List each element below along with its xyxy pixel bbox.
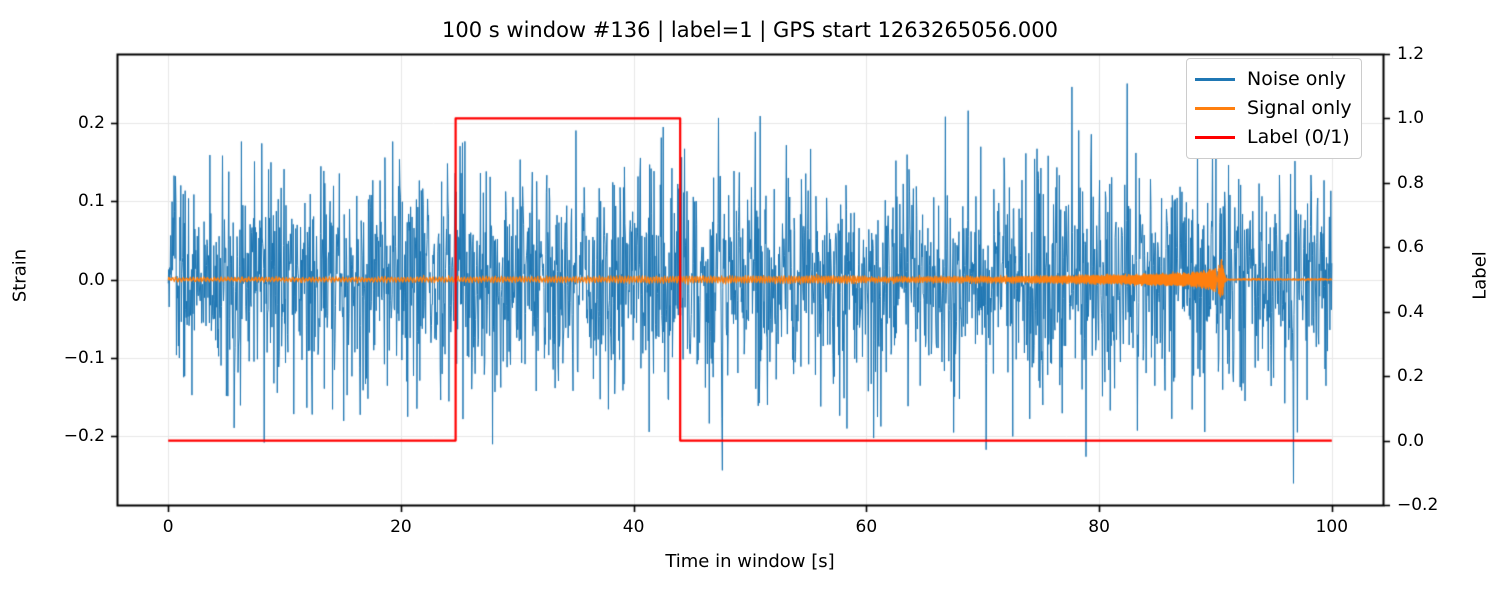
- legend: Noise only Signal only Label (0/1): [1186, 58, 1362, 159]
- y-tick-label-right: 0.2: [1397, 366, 1424, 386]
- legend-label-signal-only: Signal only: [1247, 99, 1352, 118]
- y-tick-label-right: 1.0: [1397, 108, 1424, 128]
- y-tick-label-right: 0.0: [1397, 431, 1424, 451]
- y-tick-label-right: 0.6: [1397, 237, 1424, 257]
- legend-label-label: Label (0/1): [1247, 128, 1350, 147]
- y-tick-label-left: 0.2: [78, 113, 105, 133]
- x-tick-label: 100: [1316, 517, 1348, 537]
- legend-swatch-label: [1195, 136, 1235, 139]
- x-tick-label: 40: [623, 517, 645, 537]
- y-tick-label-right: 1.2: [1397, 44, 1424, 64]
- y-tick-label-left: −0.1: [64, 348, 105, 368]
- legend-item-noise-only[interactable]: Noise only: [1195, 65, 1352, 94]
- legend-item-label[interactable]: Label (0/1): [1195, 123, 1352, 152]
- figure-canvas-container: 100 s window #136 | label=1 | GPS start …: [0, 0, 1500, 600]
- y-tick-label-right: −0.2: [1397, 495, 1438, 515]
- y-tick-label-left: 0.0: [78, 270, 105, 290]
- legend-item-signal-only[interactable]: Signal only: [1195, 94, 1352, 123]
- legend-swatch-signal-only: [1195, 107, 1235, 110]
- legend-label-noise-only: Noise only: [1247, 70, 1346, 89]
- y-tick-label-left: 0.1: [78, 191, 105, 211]
- x-tick-label: 80: [1088, 517, 1110, 537]
- y-tick-label-right: 0.4: [1397, 302, 1424, 322]
- x-tick-label: 0: [163, 517, 174, 537]
- x-tick-label: 20: [390, 517, 412, 537]
- y-tick-label-right: 0.8: [1397, 173, 1424, 193]
- x-tick-label: 60: [856, 517, 878, 537]
- y-tick-label-left: −0.2: [64, 426, 105, 446]
- legend-swatch-noise-only: [1195, 78, 1235, 81]
